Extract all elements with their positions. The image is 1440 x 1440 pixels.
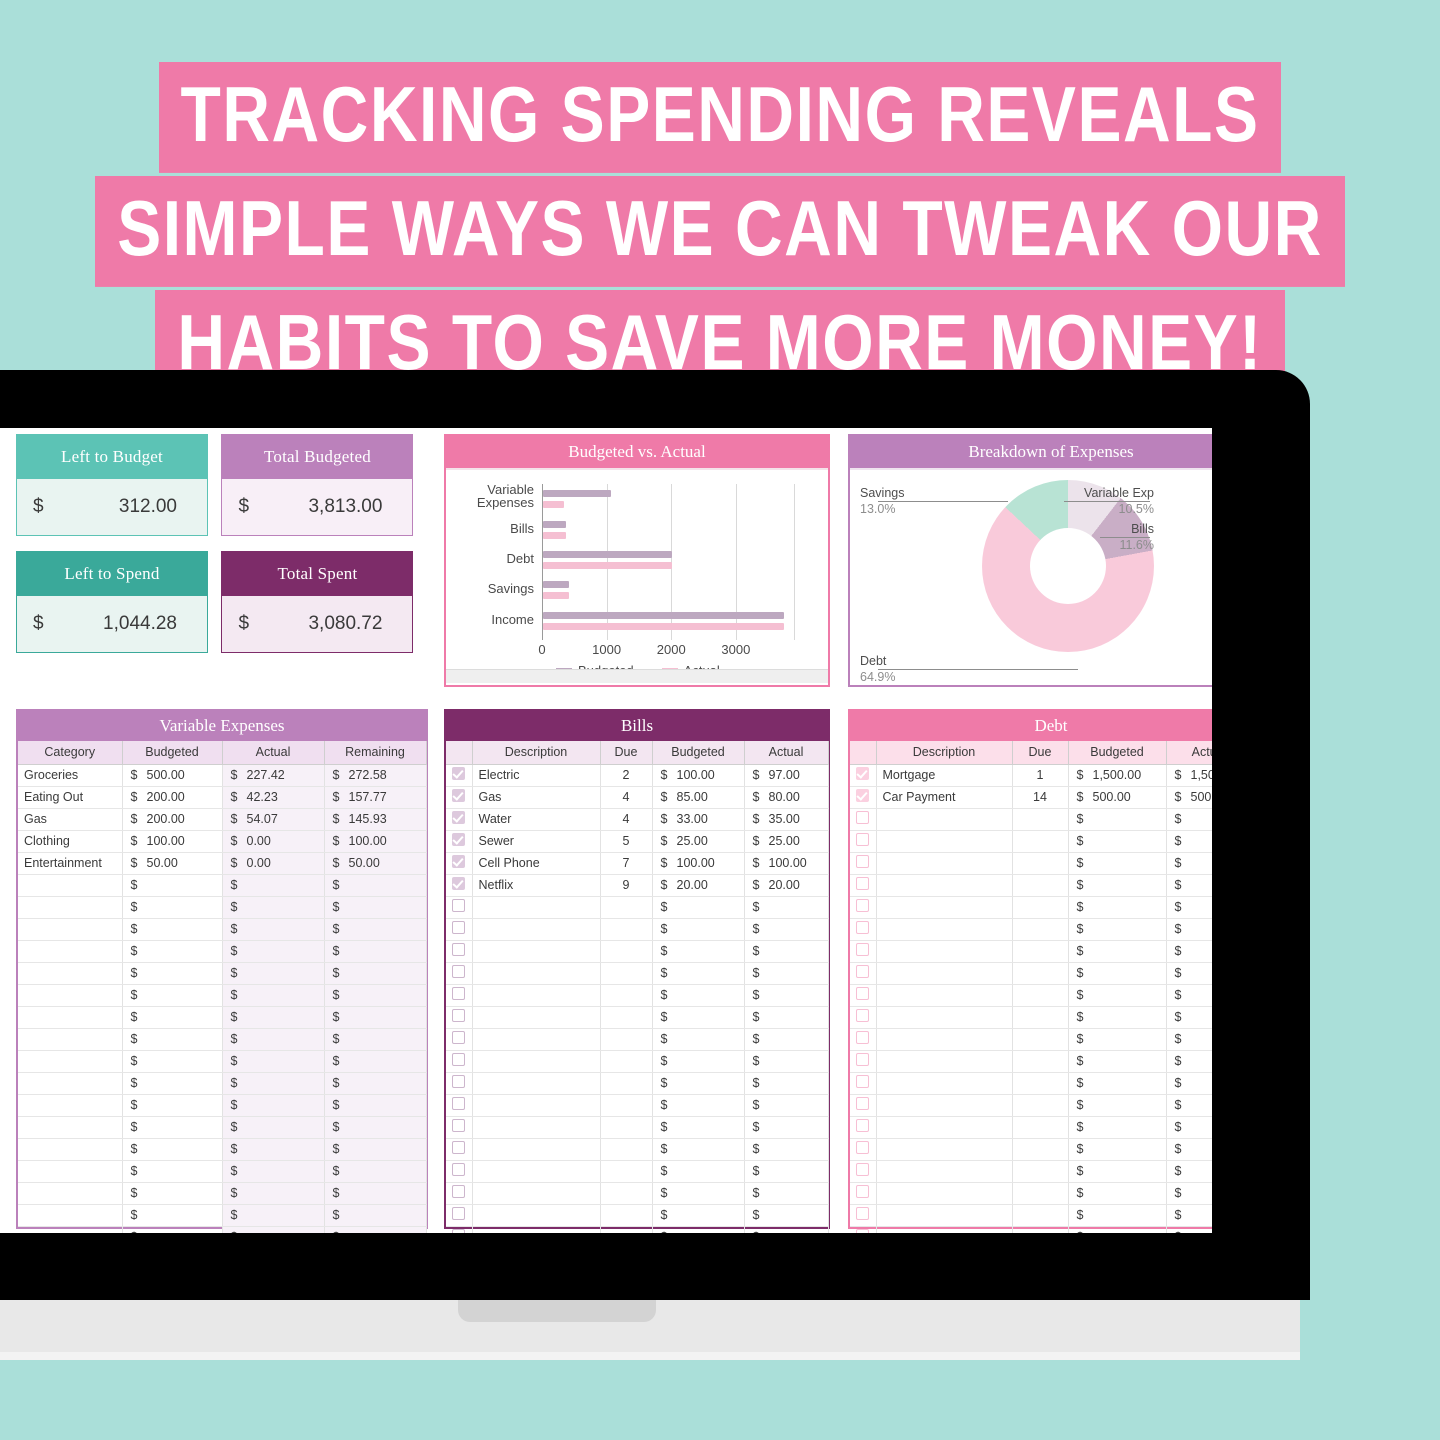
cell-checkbox[interactable] <box>446 1028 472 1050</box>
cell-amount[interactable]: $20.00 <box>744 874 828 896</box>
cell-due[interactable] <box>1012 940 1068 962</box>
cell-amount[interactable]: $ <box>1166 830 1212 852</box>
checkbox-icon[interactable] <box>452 987 465 1000</box>
table-row[interactable]: $$ <box>446 984 828 1006</box>
card-left-to-budget[interactable]: Left to Budget $ 312.00 <box>16 434 208 536</box>
cell-description[interactable] <box>876 808 1012 830</box>
table-row[interactable]: $$ <box>446 1138 828 1160</box>
cell-due[interactable] <box>600 1050 652 1072</box>
table-row[interactable]: $$ <box>850 1050 1212 1072</box>
cell-description[interactable]: Electric <box>472 764 600 786</box>
cell-amount[interactable]: $ <box>324 1006 426 1028</box>
cell-amount[interactable]: $ <box>1068 984 1166 1006</box>
checkbox-icon[interactable] <box>856 789 869 802</box>
cell-due[interactable] <box>600 962 652 984</box>
table-row[interactable]: $$ <box>850 1028 1212 1050</box>
table-row[interactable]: Mortgage1$1,500.00$1,500.00 <box>850 764 1212 786</box>
cell-checkbox[interactable] <box>446 764 472 786</box>
cell-due[interactable] <box>600 940 652 962</box>
table-row[interactable]: $$ <box>446 962 828 984</box>
table-row[interactable]: $$ <box>850 1094 1212 1116</box>
cell-due[interactable] <box>600 1072 652 1094</box>
cell-description[interactable] <box>876 1138 1012 1160</box>
card-total-budgeted[interactable]: Total Budgeted $ 3,813.00 <box>221 434 413 536</box>
table-row[interactable]: Cell Phone7$100.00$100.00 <box>446 852 828 874</box>
cell-amount[interactable]: $0.00 <box>222 830 324 852</box>
cell-amount[interactable]: $ <box>744 1138 828 1160</box>
cell-amount[interactable]: $ <box>222 1138 324 1160</box>
cell-checkbox[interactable] <box>850 1116 876 1138</box>
cell-amount[interactable]: $ <box>222 1028 324 1050</box>
cell-description[interactable] <box>876 1226 1012 1233</box>
cell-amount[interactable]: $ <box>122 1182 222 1204</box>
cell-amount[interactable]: $227.42 <box>222 764 324 786</box>
checkbox-icon[interactable] <box>452 1229 465 1233</box>
cell-amount[interactable]: $ <box>744 962 828 984</box>
cell-amount[interactable]: $ <box>1166 1182 1212 1204</box>
cell-due[interactable]: 5 <box>600 830 652 852</box>
cell-description[interactable] <box>876 1160 1012 1182</box>
cell-amount[interactable]: $200.00 <box>122 786 222 808</box>
cell-amount[interactable]: $ <box>122 962 222 984</box>
cell-amount[interactable]: $ <box>1166 1050 1212 1072</box>
cell-checkbox[interactable] <box>446 918 472 940</box>
cell-amount[interactable]: $25.00 <box>744 830 828 852</box>
cell-amount[interactable]: $ <box>744 1204 828 1226</box>
table-row[interactable]: $$ <box>446 896 828 918</box>
table-row[interactable]: $$ <box>850 808 1212 830</box>
cell-amount[interactable]: $ <box>1068 1072 1166 1094</box>
checkbox-icon[interactable] <box>452 877 465 890</box>
cell-description[interactable] <box>472 1116 600 1138</box>
cell-amount[interactable]: $ <box>1166 1094 1212 1116</box>
cell-amount[interactable]: $ <box>1068 1138 1166 1160</box>
cell-amount[interactable]: $100.00 <box>652 852 744 874</box>
cell-checkbox[interactable] <box>850 1204 876 1226</box>
checkbox-icon[interactable] <box>856 1075 869 1088</box>
cell-category[interactable] <box>18 1204 122 1226</box>
cell-amount[interactable]: $ <box>324 1226 426 1233</box>
cell-amount[interactable]: $ <box>122 918 222 940</box>
cell-amount[interactable]: $1,500.00 <box>1166 764 1212 786</box>
cell-category[interactable] <box>18 984 122 1006</box>
cell-description[interactable]: Car Payment <box>876 786 1012 808</box>
cell-description[interactable] <box>876 1028 1012 1050</box>
cell-amount[interactable]: $ <box>1166 852 1212 874</box>
cell-checkbox[interactable] <box>850 1182 876 1204</box>
table-row[interactable]: $$$ <box>18 1072 426 1094</box>
cell-description[interactable] <box>876 1116 1012 1138</box>
cell-checkbox[interactable] <box>850 1006 876 1028</box>
cell-amount[interactable]: $ <box>744 896 828 918</box>
cell-amount[interactable]: $ <box>1068 940 1166 962</box>
cell-description[interactable] <box>472 896 600 918</box>
cell-amount[interactable]: $ <box>744 1116 828 1138</box>
table-row[interactable]: $$$ <box>18 1138 426 1160</box>
cell-description[interactable] <box>472 1138 600 1160</box>
cell-due[interactable]: 14 <box>1012 786 1068 808</box>
cell-amount[interactable]: $ <box>1166 1006 1212 1028</box>
table-row[interactable]: Car Payment14$500.00$500.00 <box>850 786 1212 808</box>
cell-description[interactable] <box>876 852 1012 874</box>
cell-checkbox[interactable] <box>850 918 876 940</box>
cell-amount[interactable]: $ <box>1068 1094 1166 1116</box>
cell-checkbox[interactable] <box>850 984 876 1006</box>
cell-description[interactable] <box>876 896 1012 918</box>
cell-amount[interactable]: $100.00 <box>652 764 744 786</box>
cell-amount[interactable]: $ <box>122 1204 222 1226</box>
checkbox-icon[interactable] <box>452 1053 465 1066</box>
table-row[interactable]: $$ <box>850 918 1212 940</box>
cell-category[interactable] <box>18 1226 122 1233</box>
cell-amount[interactable]: $25.00 <box>652 830 744 852</box>
checkbox-icon[interactable] <box>452 1141 465 1154</box>
table-row[interactable]: $$$ <box>18 1006 426 1028</box>
cell-amount[interactable]: $ <box>744 1006 828 1028</box>
cell-amount[interactable]: $ <box>222 962 324 984</box>
cell-due[interactable] <box>1012 808 1068 830</box>
table-row[interactable]: $$$ <box>18 896 426 918</box>
cell-checkbox[interactable] <box>446 1160 472 1182</box>
cell-amount[interactable]: $ <box>1068 1028 1166 1050</box>
cell-checkbox[interactable] <box>850 1028 876 1050</box>
cell-due[interactable] <box>1012 830 1068 852</box>
cell-due[interactable] <box>1012 874 1068 896</box>
cell-amount[interactable]: $ <box>222 1006 324 1028</box>
cell-amount[interactable]: $ <box>324 1116 426 1138</box>
cell-category[interactable]: Entertainment <box>18 852 122 874</box>
checkbox-icon[interactable] <box>856 899 869 912</box>
checkbox-icon[interactable] <box>856 1031 869 1044</box>
cell-description[interactable] <box>876 830 1012 852</box>
cell-amount[interactable]: $ <box>1068 962 1166 984</box>
table-row[interactable]: $$$ <box>18 1050 426 1072</box>
cell-amount[interactable]: $ <box>1068 896 1166 918</box>
cell-amount[interactable]: $100.00 <box>744 852 828 874</box>
table-row[interactable]: $$ <box>446 1050 828 1072</box>
cell-description[interactable]: Water <box>472 808 600 830</box>
cell-checkbox[interactable] <box>850 1160 876 1182</box>
checkbox-icon[interactable] <box>452 1031 465 1044</box>
cell-amount[interactable]: $500.00 <box>122 764 222 786</box>
cell-description[interactable] <box>472 984 600 1006</box>
cell-due[interactable] <box>600 1138 652 1160</box>
table-row[interactable]: $$ <box>850 1116 1212 1138</box>
chart-card-budgeted-vs-actual[interactable]: Budgeted vs. Actual VariableExpensesBill… <box>444 434 830 687</box>
cell-amount[interactable]: $ <box>1068 1050 1166 1072</box>
cell-amount[interactable]: $ <box>324 1182 426 1204</box>
cell-due[interactable] <box>1012 1226 1068 1233</box>
checkbox-icon[interactable] <box>856 811 869 824</box>
bills-table[interactable]: Description Due Budgeted Actual Electric… <box>446 741 829 1233</box>
cell-checkbox[interactable] <box>850 764 876 786</box>
cell-amount[interactable]: $ <box>1068 1226 1166 1233</box>
table-row[interactable]: $$ <box>446 940 828 962</box>
cell-description[interactable] <box>472 940 600 962</box>
checkbox-icon[interactable] <box>856 1141 869 1154</box>
cell-due[interactable] <box>600 1204 652 1226</box>
cell-description[interactable] <box>472 918 600 940</box>
checkbox-icon[interactable] <box>856 1009 869 1022</box>
cell-amount[interactable]: $ <box>744 984 828 1006</box>
cell-description[interactable] <box>472 962 600 984</box>
table-row[interactable]: Electric2$100.00$97.00 <box>446 764 828 786</box>
table-row[interactable]: Eating Out$200.00$42.23$157.77 <box>18 786 426 808</box>
cell-amount[interactable]: $ <box>222 896 324 918</box>
cell-amount[interactable]: $ <box>222 984 324 1006</box>
cell-amount[interactable]: $ <box>122 1226 222 1233</box>
cell-amount[interactable]: $ <box>324 896 426 918</box>
cell-amount[interactable]: $500.00 <box>1068 786 1166 808</box>
table-row[interactable]: $$ <box>850 962 1212 984</box>
cell-amount[interactable]: $ <box>1166 1072 1212 1094</box>
cell-amount[interactable]: $ <box>222 1160 324 1182</box>
checkbox-icon[interactable] <box>452 899 465 912</box>
table-row[interactable]: $$ <box>850 1160 1212 1182</box>
cell-checkbox[interactable] <box>446 962 472 984</box>
cell-amount[interactable]: $ <box>652 1028 744 1050</box>
cell-amount[interactable]: $ <box>652 984 744 1006</box>
cell-amount[interactable]: $ <box>222 940 324 962</box>
variable-expenses-table[interactable]: Category Budgeted Actual Remaining Groce… <box>18 741 427 1233</box>
cell-amount[interactable]: $ <box>1166 896 1212 918</box>
cell-checkbox[interactable] <box>850 940 876 962</box>
table-card-debt[interactable]: Debt Description Due Budgeted Actual Mor… <box>848 709 1212 1229</box>
cell-category[interactable] <box>18 874 122 896</box>
cell-amount[interactable]: $ <box>122 1116 222 1138</box>
cell-amount[interactable]: $ <box>1166 1028 1212 1050</box>
cell-due[interactable]: 1 <box>1012 764 1068 786</box>
cell-description[interactable] <box>876 1094 1012 1116</box>
cell-amount[interactable]: $ <box>324 1050 426 1072</box>
cell-amount[interactable]: $33.00 <box>652 808 744 830</box>
cell-amount[interactable]: $ <box>1166 940 1212 962</box>
cell-category[interactable]: Eating Out <box>18 786 122 808</box>
checkbox-icon[interactable] <box>856 987 869 1000</box>
cell-amount[interactable]: $54.07 <box>222 808 324 830</box>
cell-amount[interactable]: $ <box>1166 808 1212 830</box>
cell-due[interactable] <box>600 1006 652 1028</box>
cell-due[interactable] <box>1012 918 1068 940</box>
cell-amount[interactable]: $100.00 <box>324 830 426 852</box>
checkbox-icon[interactable] <box>856 1229 869 1233</box>
cell-amount[interactable]: $ <box>652 1226 744 1233</box>
cell-amount[interactable]: $100.00 <box>122 830 222 852</box>
checkbox-icon[interactable] <box>452 767 465 780</box>
cell-checkbox[interactable] <box>850 874 876 896</box>
cell-amount[interactable]: $ <box>1166 962 1212 984</box>
cell-due[interactable] <box>1012 1160 1068 1182</box>
checkbox-icon[interactable] <box>452 1009 465 1022</box>
cell-checkbox[interactable] <box>446 1006 472 1028</box>
cell-checkbox[interactable] <box>850 1138 876 1160</box>
cell-amount[interactable]: $ <box>1068 1006 1166 1028</box>
cell-checkbox[interactable] <box>446 896 472 918</box>
cell-amount[interactable]: $50.00 <box>324 852 426 874</box>
cell-amount[interactable]: $145.93 <box>324 808 426 830</box>
cell-amount[interactable]: $ <box>1166 1138 1212 1160</box>
cell-checkbox[interactable] <box>446 1204 472 1226</box>
cell-due[interactable] <box>1012 1204 1068 1226</box>
checkbox-icon[interactable] <box>856 1207 869 1220</box>
cell-amount[interactable]: $0.00 <box>222 852 324 874</box>
cell-amount[interactable]: $ <box>1166 1160 1212 1182</box>
cell-amount[interactable]: $ <box>324 1072 426 1094</box>
cell-checkbox[interactable] <box>446 1094 472 1116</box>
cell-due[interactable] <box>600 984 652 1006</box>
cell-amount[interactable]: $ <box>1166 984 1212 1006</box>
cell-description[interactable] <box>876 1050 1012 1072</box>
cell-checkbox[interactable] <box>850 786 876 808</box>
cell-amount[interactable]: $ <box>122 940 222 962</box>
cell-checkbox[interactable] <box>446 940 472 962</box>
cell-amount[interactable]: $ <box>324 1094 426 1116</box>
cell-category[interactable] <box>18 1006 122 1028</box>
cell-checkbox[interactable] <box>446 1116 472 1138</box>
checkbox-icon[interactable] <box>856 1163 869 1176</box>
cell-amount[interactable]: $ <box>324 1204 426 1226</box>
cell-due[interactable] <box>600 1028 652 1050</box>
table-row[interactable]: $$$ <box>18 874 426 896</box>
table-row[interactable]: $$ <box>850 1138 1212 1160</box>
checkbox-icon[interactable] <box>452 921 465 934</box>
table-row[interactable]: $$$ <box>18 1116 426 1138</box>
cell-due[interactable] <box>1012 1050 1068 1072</box>
cell-amount[interactable]: $85.00 <box>652 786 744 808</box>
cell-checkbox[interactable] <box>850 1072 876 1094</box>
cell-amount[interactable]: $ <box>324 874 426 896</box>
cell-description[interactable] <box>876 1072 1012 1094</box>
cell-amount[interactable]: $ <box>1166 1116 1212 1138</box>
checkbox-icon[interactable] <box>856 1053 869 1066</box>
card-total-spent[interactable]: Total Spent $ 3,080.72 <box>221 551 413 653</box>
checkbox-icon[interactable] <box>452 1119 465 1132</box>
table-row[interactable]: Sewer5$25.00$25.00 <box>446 830 828 852</box>
table-row[interactable]: $$$ <box>18 940 426 962</box>
cell-amount[interactable]: $ <box>324 1028 426 1050</box>
cell-amount[interactable]: $ <box>1068 918 1166 940</box>
cell-amount[interactable]: $ <box>122 1028 222 1050</box>
cell-amount[interactable]: $ <box>744 1072 828 1094</box>
chart-scroll-gutter[interactable] <box>446 669 828 683</box>
table-row[interactable]: $$ <box>446 918 828 940</box>
cell-due[interactable] <box>1012 1028 1068 1050</box>
cell-description[interactable] <box>876 1204 1012 1226</box>
table-row[interactable]: $$ <box>446 1094 828 1116</box>
checkbox-icon[interactable] <box>452 943 465 956</box>
cell-checkbox[interactable] <box>850 962 876 984</box>
cell-amount[interactable]: $ <box>222 1226 324 1233</box>
cell-checkbox[interactable] <box>446 1226 472 1233</box>
cell-amount[interactable]: $ <box>744 1050 828 1072</box>
cell-checkbox[interactable] <box>446 874 472 896</box>
cell-amount[interactable]: $ <box>744 1028 828 1050</box>
checkbox-icon[interactable] <box>856 855 869 868</box>
cell-amount[interactable]: $ <box>652 1160 744 1182</box>
cell-due[interactable] <box>1012 896 1068 918</box>
cell-description[interactable] <box>472 1028 600 1050</box>
cell-due[interactable] <box>1012 852 1068 874</box>
cell-checkbox[interactable] <box>850 896 876 918</box>
cell-amount[interactable]: $42.23 <box>222 786 324 808</box>
table-row[interactable]: $$ <box>850 896 1212 918</box>
table-row[interactable]: $$ <box>446 1204 828 1226</box>
cell-amount[interactable]: $ <box>652 1072 744 1094</box>
cell-category[interactable] <box>18 1072 122 1094</box>
checkbox-icon[interactable] <box>452 789 465 802</box>
cell-amount[interactable]: $ <box>324 1160 426 1182</box>
cell-due[interactable] <box>600 918 652 940</box>
table-row[interactable]: $$$ <box>18 1094 426 1116</box>
table-row[interactable]: $$ <box>446 1226 828 1233</box>
cell-checkbox[interactable] <box>446 852 472 874</box>
cell-description[interactable] <box>472 1160 600 1182</box>
table-card-variable-expenses[interactable]: Variable Expenses Category Budgeted Actu… <box>16 709 428 1229</box>
cell-due[interactable] <box>1012 1138 1068 1160</box>
cell-amount[interactable]: $ <box>652 896 744 918</box>
cell-amount[interactable]: $ <box>652 940 744 962</box>
cell-due[interactable] <box>600 1094 652 1116</box>
cell-checkbox[interactable] <box>446 1050 472 1072</box>
cell-amount[interactable]: $ <box>222 1182 324 1204</box>
cell-description[interactable] <box>472 1006 600 1028</box>
cell-amount[interactable]: $ <box>652 962 744 984</box>
cell-amount[interactable]: $ <box>222 1116 324 1138</box>
cell-amount[interactable]: $ <box>222 1204 324 1226</box>
table-row[interactable]: $$ <box>850 984 1212 1006</box>
cell-amount[interactable]: $1,500.00 <box>1068 764 1166 786</box>
table-row[interactable]: $$ <box>446 1006 828 1028</box>
table-row[interactable]: $$ <box>850 874 1212 896</box>
cell-amount[interactable]: $ <box>1068 808 1166 830</box>
cell-amount[interactable]: $ <box>1166 918 1212 940</box>
table-row[interactable]: $$$ <box>18 1182 426 1204</box>
cell-due[interactable]: 4 <box>600 808 652 830</box>
cell-description[interactable] <box>876 918 1012 940</box>
table-card-bills[interactable]: Bills Description Due Budgeted Actual El… <box>444 709 830 1229</box>
checkbox-icon[interactable] <box>856 1097 869 1110</box>
table-row[interactable]: $$ <box>446 1116 828 1138</box>
cell-amount[interactable]: $ <box>324 1138 426 1160</box>
cell-description[interactable] <box>876 984 1012 1006</box>
cell-checkbox[interactable] <box>446 1182 472 1204</box>
cell-amount[interactable]: $ <box>122 896 222 918</box>
cell-amount[interactable]: $ <box>324 940 426 962</box>
cell-amount[interactable]: $ <box>652 1094 744 1116</box>
table-row[interactable]: Clothing$100.00$0.00$100.00 <box>18 830 426 852</box>
cell-due[interactable] <box>1012 1072 1068 1094</box>
cell-checkbox[interactable] <box>850 1050 876 1072</box>
table-row[interactable]: $$ <box>446 1028 828 1050</box>
cell-due[interactable] <box>600 1116 652 1138</box>
cell-amount[interactable]: $ <box>744 940 828 962</box>
cell-category[interactable] <box>18 918 122 940</box>
cell-category[interactable] <box>18 896 122 918</box>
cell-checkbox[interactable] <box>446 1072 472 1094</box>
checkbox-icon[interactable] <box>452 833 465 846</box>
cell-amount[interactable]: $ <box>222 1094 324 1116</box>
table-row[interactable]: Groceries$500.00$227.42$272.58 <box>18 764 426 786</box>
cell-description[interactable] <box>876 1006 1012 1028</box>
cell-due[interactable]: 7 <box>600 852 652 874</box>
table-row[interactable]: $$$ <box>18 1204 426 1226</box>
cell-description[interactable]: Netflix <box>472 874 600 896</box>
cell-category[interactable] <box>18 1116 122 1138</box>
cell-category[interactable] <box>18 1094 122 1116</box>
cell-amount[interactable]: $ <box>1166 874 1212 896</box>
cell-description[interactable] <box>876 1182 1012 1204</box>
cell-description[interactable] <box>876 962 1012 984</box>
